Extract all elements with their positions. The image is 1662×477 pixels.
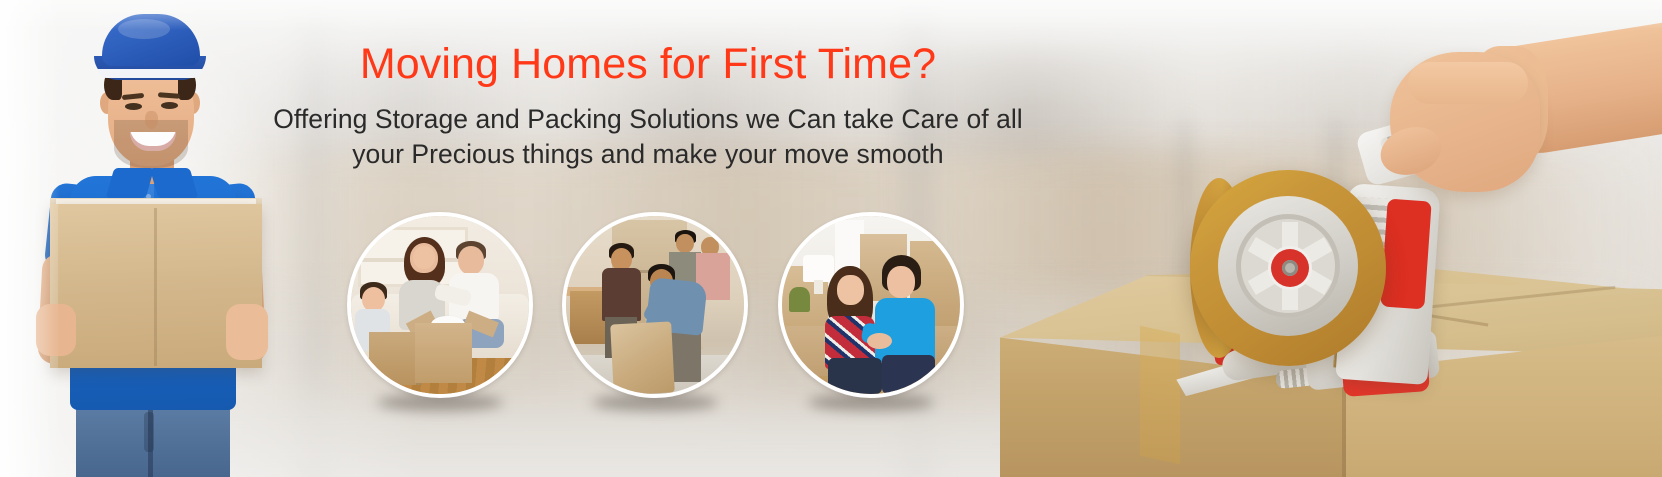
circle-frame xyxy=(778,212,964,398)
woman-legs xyxy=(828,358,881,394)
worker-1-body xyxy=(602,268,641,321)
eye-right xyxy=(161,102,178,109)
page-title: Moving Homes for First Time? xyxy=(262,40,1034,88)
circle-frame xyxy=(347,212,533,398)
hand-right xyxy=(226,304,268,360)
cap-highlight xyxy=(118,19,170,39)
polo-collar-right xyxy=(150,168,199,198)
hand-left xyxy=(36,304,76,356)
banner-copy: Moving Homes for First Time? Offering St… xyxy=(262,40,1034,172)
circle-thumb-family-unpacking[interactable] xyxy=(347,212,533,398)
carried-box-seam xyxy=(154,208,157,366)
hand-knuckles xyxy=(1408,62,1528,104)
subtitle-line-1: Offering Storage and Packing Solutions w… xyxy=(262,102,1034,137)
scene-family-unpacking xyxy=(351,216,529,394)
applied-tape-strip xyxy=(1140,326,1180,465)
dispenser-red-grip xyxy=(1380,199,1431,310)
eye-left xyxy=(125,103,142,110)
service-photo-circles xyxy=(347,212,964,402)
circle-frame xyxy=(562,212,748,398)
circle-thumb-couple-among-boxes[interactable] xyxy=(778,212,964,398)
wrapped-furniture xyxy=(610,321,674,395)
nose xyxy=(145,111,158,129)
delivery-man-figure xyxy=(18,8,280,477)
woman-face xyxy=(837,275,864,305)
banner-subtitle: Offering Storage and Packing Solutions w… xyxy=(262,102,1034,172)
cap-brim-trim xyxy=(98,69,202,78)
man-legs xyxy=(882,355,935,394)
man-face xyxy=(887,266,915,298)
cardboard-box-center xyxy=(415,323,472,384)
circle-thumb-movers-wrapping[interactable] xyxy=(562,212,748,398)
tape-gun-scene xyxy=(990,0,1662,477)
jeans-fly xyxy=(144,412,154,452)
moving-services-banner: Moving Homes for First Time? Offering St… xyxy=(0,0,1662,477)
father-head xyxy=(458,246,485,274)
subtitle-line-2: your Precious things and make your move … xyxy=(262,137,1034,172)
potted-plant xyxy=(789,287,810,312)
scene-movers-wrapping-furniture xyxy=(566,216,744,394)
scene-couple-among-boxes xyxy=(782,216,960,394)
lamp-shade xyxy=(803,255,833,282)
lamp-base xyxy=(814,280,823,294)
tape-roll-center-pin xyxy=(1282,260,1298,276)
mother-face xyxy=(413,246,434,269)
